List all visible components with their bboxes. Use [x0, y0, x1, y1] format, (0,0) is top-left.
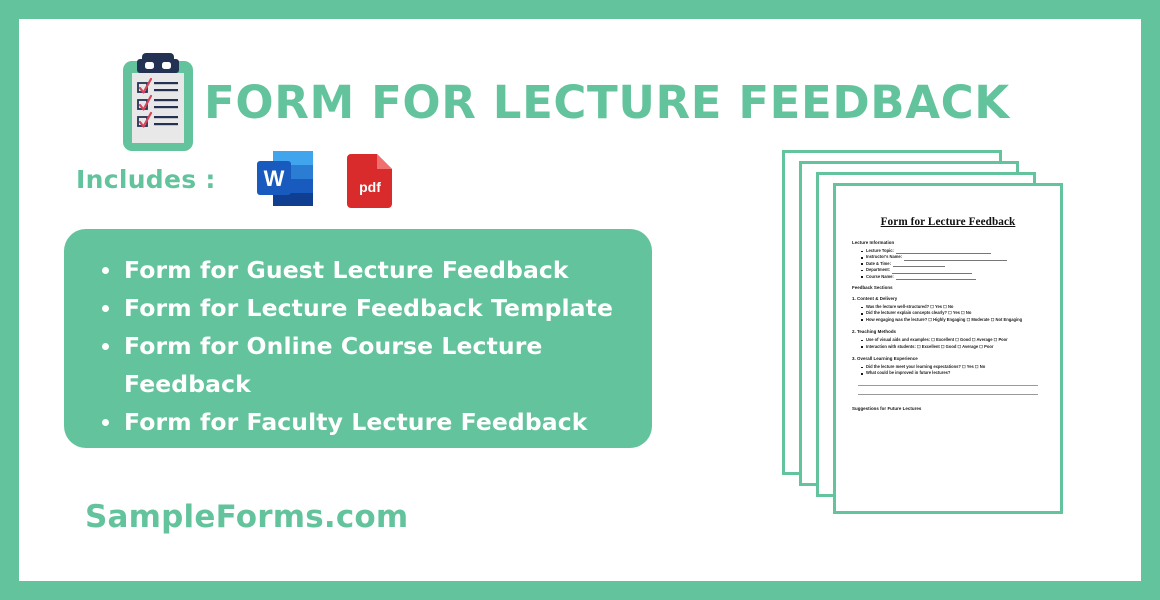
pdf-file-icon: pdf: [343, 150, 396, 208]
answer-blank-line: [858, 394, 1038, 395]
document-field-row: Course Name:: [861, 274, 1044, 280]
document-section-heading: Lecture Information: [852, 240, 1044, 245]
document-field-list: Lecture Topic: Instructor's Name: Date &…: [861, 248, 1044, 280]
document-title: Form for Lecture Feedback: [852, 216, 1044, 228]
document-question-list: Was the lecture well-structured? ☐ Yes ☐…: [861, 304, 1044, 323]
included-forms-card: Form for Guest Lecture Feedback Form for…: [64, 229, 652, 448]
list-item-label: Form for Faculty Lecture Feedback: [124, 408, 587, 436]
document-question-label: Use of visual aids and examples: ☐ Excel…: [866, 337, 1008, 342]
list-item: Form for Faculty Lecture Feedback: [100, 403, 622, 441]
poster-canvas: FORM FOR LECTURE FEEDBACK Includes : W: [19, 19, 1141, 581]
word-file-icon: W: [255, 149, 315, 209]
answer-blank-line: [858, 385, 1038, 386]
list-item-label: Form for Lecture Feedback Template: [124, 294, 613, 322]
list-item: Form for Online Course Lecture Feedback: [100, 327, 622, 403]
document-section-heading: Feedback Sections: [852, 285, 1044, 290]
field-blank-line: [896, 276, 976, 280]
clipboard-checklist-icon: [121, 51, 195, 153]
svg-text:pdf: pdf: [359, 179, 381, 195]
document-question-label: Did the lecturer explain concepts clearl…: [866, 310, 971, 315]
included-forms-list: Form for Guest Lecture Feedback Form for…: [100, 251, 622, 441]
svg-text:W: W: [263, 166, 284, 191]
document-question-list: Did the lecture meet your learning expec…: [861, 364, 1044, 377]
document-question-label: What could be improved in future lecture…: [866, 370, 950, 375]
document-question-row: What could be improved in future lecture…: [861, 370, 1044, 376]
list-item: Form for Lecture Feedback Template: [100, 289, 622, 327]
brand-wordmark: SampleForms.com: [85, 499, 408, 535]
document-field-label: Instructor's Name:: [866, 254, 902, 259]
document-question-label: Did the lecture meet your learning expec…: [866, 364, 985, 369]
list-item-label: Form for Guest Lecture Feedback: [124, 256, 569, 284]
document-field-label: Lecture Topic:: [866, 248, 894, 253]
document-field-label: Course Name:: [866, 274, 894, 279]
includes-row: Includes : W pdf: [76, 144, 396, 214]
document-section-heading: 2. Teaching Methods: [852, 329, 1044, 334]
format-icon-group: W pdf: [255, 149, 396, 209]
document-question-label: Was the lecture well-structured? ☐ Yes ☐…: [866, 304, 953, 309]
document-question-list: Use of visual aids and examples: ☐ Excel…: [861, 337, 1044, 350]
document-field-label: Department:: [866, 267, 890, 272]
page-title: FORM FOR LECTURE FEEDBACK: [204, 57, 1010, 149]
document-question-row: How engaging was the lecture? ☐ Highly E…: [861, 317, 1044, 323]
poster-root: FORM FOR LECTURE FEEDBACK Includes : W: [0, 0, 1160, 600]
document-field-label: Date & Time:: [866, 261, 891, 266]
document-section-heading: 1. Content & Delivery: [852, 296, 1044, 301]
document-preview-stack: Form for Lecture Feedback Lecture Inform…: [782, 150, 1072, 502]
document-question-label: How engaging was the lecture? ☐ Highly E…: [866, 317, 1022, 322]
document-section-heading: 3. Overall Learning Experience: [852, 356, 1044, 361]
document-question-row: Interaction with students: ☐ Excellent ☐…: [861, 344, 1044, 350]
header: FORM FOR LECTURE FEEDBACK: [104, 37, 1094, 147]
list-item: Form for Guest Lecture Feedback: [100, 251, 622, 289]
document-question-label: Interaction with students: ☐ Excellent ☐…: [866, 344, 993, 349]
document-sheet-front: Form for Lecture Feedback Lecture Inform…: [833, 183, 1063, 514]
includes-label: Includes :: [76, 165, 216, 194]
list-item-label: Form for Online Course Lecture Feedback: [124, 332, 542, 398]
document-footer-heading: Suggestions for Future Lectures: [852, 406, 1044, 411]
